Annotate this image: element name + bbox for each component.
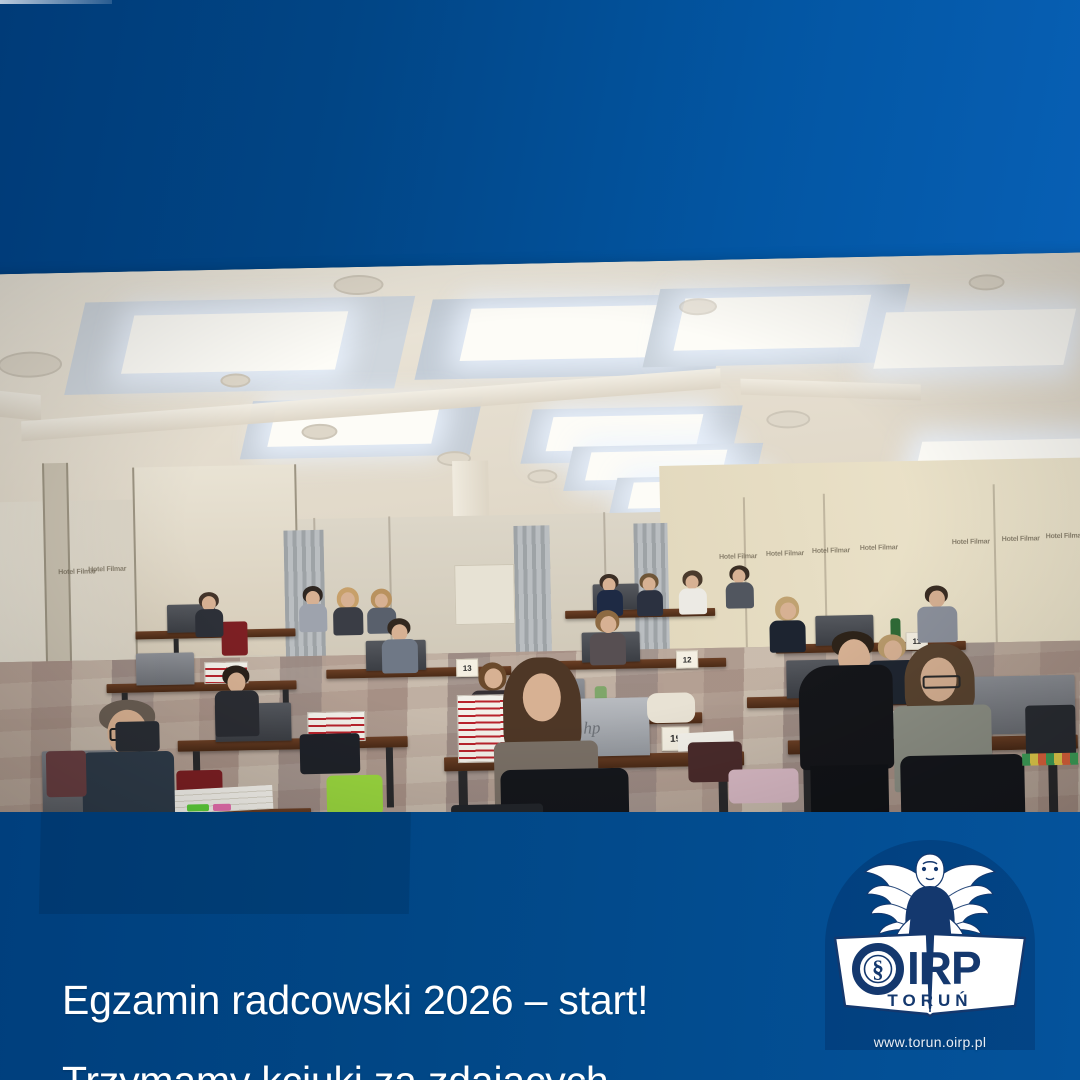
event-photo: Hotel Filmar Hotel Filmar Hotel Filmar H… xyxy=(0,252,1080,845)
top-edge-sliver xyxy=(0,0,112,4)
headline-line-2: Trzymamy kciuki za zdających xyxy=(62,1061,648,1080)
website-url[interactable]: www.torun.oirp.pl xyxy=(874,1034,986,1050)
photo-vignette xyxy=(0,252,1080,845)
social-media-card: Hotel Filmar Hotel Filmar Hotel Filmar H… xyxy=(0,0,1080,1080)
headline-line-1: Egzamin radcowski 2026 – start! xyxy=(62,980,648,1020)
logo-acronym: IRP xyxy=(907,942,981,994)
section-symbol: § xyxy=(872,957,884,983)
logo-chamber: TORUŃ xyxy=(887,991,972,1010)
logo-area[interactable]: § IRP TORUŃ www.torun.oirp.pl xyxy=(780,830,1080,1080)
oirp-torun-logo[interactable]: § IRP TORUŃ xyxy=(815,838,1045,1028)
headline: Egzamin radcowski 2026 – start! Trzymamy… xyxy=(62,940,648,1080)
banner-left-band xyxy=(39,812,411,914)
